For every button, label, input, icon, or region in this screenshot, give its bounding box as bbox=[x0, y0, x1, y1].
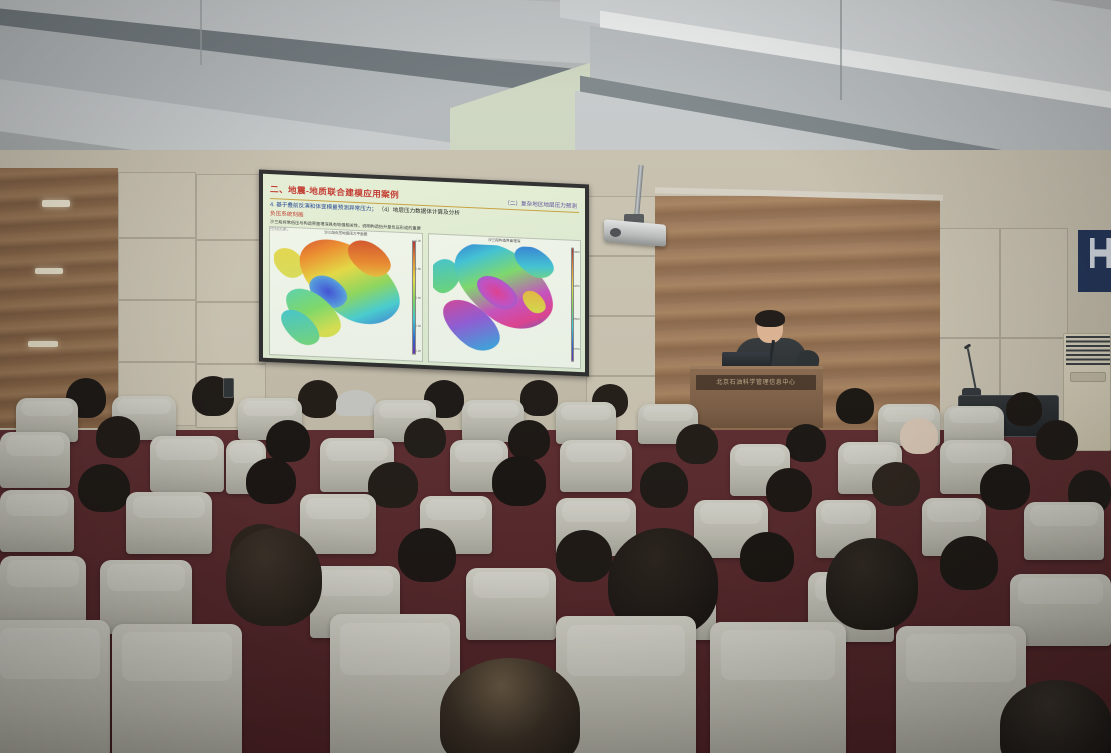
auditorium-photo: 二、地震-地质联合建模应用案例 （二）复杂地区地层压力预测 4. 基于叠前反演和… bbox=[0, 0, 1111, 753]
attendee-head bbox=[786, 424, 826, 462]
map-left: 沙三段负压地层压力平面图 1.00 0.80 bbox=[269, 226, 423, 362]
attendee-head bbox=[1036, 420, 1078, 460]
speaker-hair bbox=[755, 310, 785, 327]
map-left-artwork bbox=[274, 235, 408, 355]
acoustic-panel bbox=[586, 316, 660, 376]
attendee-head bbox=[640, 462, 688, 508]
slide-bullet-sub: （4）地层压力数据体计算及分析 bbox=[378, 206, 459, 216]
seat bbox=[0, 556, 86, 630]
attendee-head bbox=[404, 418, 446, 458]
presentation-slide: 二、地震-地质联合建模应用案例 （二）复杂地区地层压力预测 4. 基于叠前反演和… bbox=[263, 174, 585, 373]
map-right-tick: -3000 bbox=[572, 249, 579, 253]
wall-light-3 bbox=[28, 341, 58, 347]
map-right-tick: -3250 bbox=[572, 283, 579, 287]
attendee-head bbox=[766, 468, 812, 512]
seat bbox=[466, 568, 556, 640]
attendee-head bbox=[556, 530, 612, 582]
attendee-head bbox=[492, 456, 546, 506]
attendee-head bbox=[298, 380, 338, 418]
attendee-head bbox=[676, 424, 718, 464]
podium-plate: 北京石油科学管理信息中心 bbox=[696, 375, 816, 390]
seat bbox=[300, 494, 376, 554]
map-left-tick: 0.80 bbox=[416, 267, 421, 271]
ceiling-seam-2 bbox=[200, 0, 202, 65]
seat bbox=[710, 622, 846, 753]
seat bbox=[100, 560, 192, 634]
projection-screen: 二、地震-地质联合建模应用案例 （二）复杂地区地层压力预测 4. 基于叠前反演和… bbox=[259, 170, 589, 377]
attendee-cap-icon bbox=[336, 390, 376, 416]
seat bbox=[150, 436, 224, 492]
wall-light-2 bbox=[35, 268, 63, 274]
attendee-head bbox=[872, 462, 920, 506]
map-right: 沙三段构造界面埋深 -3000 -3250 bbox=[428, 233, 582, 369]
attendee-head bbox=[1006, 392, 1042, 426]
seat bbox=[126, 492, 212, 554]
slide-title: 二、地震-地质联合建模应用案例 bbox=[270, 183, 399, 201]
phone-device bbox=[223, 378, 234, 398]
seat bbox=[1024, 502, 1104, 560]
air-conditioner-grill bbox=[1066, 336, 1110, 366]
acoustic-panel bbox=[196, 174, 266, 240]
map-left-tick-group: 1.00 0.80 0.60 0.40 0.20 bbox=[409, 238, 421, 357]
attendee-head bbox=[836, 388, 874, 424]
map-left-tick: 1.00 bbox=[416, 239, 421, 243]
attendee-head bbox=[78, 464, 130, 512]
attendee-head bbox=[266, 420, 310, 462]
attendee-head bbox=[826, 538, 918, 630]
slide-section-label: （二）复杂地区地层压力预测 bbox=[504, 199, 577, 210]
seat bbox=[556, 402, 616, 444]
ceiling-seam-1 bbox=[840, 0, 842, 100]
map-left-tick: 0.40 bbox=[416, 324, 421, 328]
projector-lens-icon bbox=[610, 228, 621, 237]
acoustic-panel bbox=[196, 302, 266, 364]
acoustic-panel bbox=[586, 256, 660, 316]
attendee-head bbox=[740, 532, 794, 582]
seat bbox=[0, 432, 70, 488]
podium-plate-text: 北京石油科学管理信息中心 bbox=[696, 377, 816, 386]
attendee-head bbox=[226, 528, 322, 626]
attendee-head bbox=[520, 380, 558, 416]
seat bbox=[112, 624, 242, 753]
attendee-head bbox=[508, 420, 550, 460]
attendee-head bbox=[980, 464, 1030, 510]
acoustic-panel bbox=[118, 172, 196, 238]
wall-light-1 bbox=[42, 200, 70, 207]
acoustic-panel bbox=[196, 240, 266, 302]
map-right-tick: -3750 bbox=[572, 347, 579, 351]
acoustic-panel bbox=[118, 300, 196, 362]
map-right-tick-group: -3000 -3250 -3500 -3750 bbox=[568, 246, 580, 365]
acoustic-panel bbox=[1000, 228, 1068, 338]
attendee-head bbox=[398, 528, 456, 582]
attendee-head bbox=[900, 418, 938, 454]
acoustic-panel bbox=[930, 228, 1000, 338]
acoustic-panel bbox=[118, 238, 196, 300]
map-left-tick: 0.20 bbox=[416, 348, 421, 352]
slide-red-label: 负压系统刻画 bbox=[270, 211, 304, 219]
air-conditioner-control-panel[interactable] bbox=[1070, 372, 1106, 382]
attendee-head bbox=[96, 416, 140, 458]
attendee-head bbox=[940, 536, 998, 590]
map-left-tick: 0.60 bbox=[416, 295, 421, 299]
map-right-artwork bbox=[433, 242, 567, 362]
attendee-head bbox=[246, 458, 296, 504]
screen-surface: 二、地震-地质联合建模应用案例 （二）复杂地区地层压力预测 4. 基于叠前反演和… bbox=[263, 174, 585, 373]
map-right-tick: -3500 bbox=[572, 317, 579, 321]
seat bbox=[0, 490, 74, 552]
slide-map-row: 沙三段负压地层压力平面图 1.00 0.80 bbox=[269, 226, 581, 369]
podium: 北京石油科学管理信息中心 bbox=[690, 366, 823, 428]
seat bbox=[0, 620, 110, 753]
seat bbox=[560, 440, 632, 492]
